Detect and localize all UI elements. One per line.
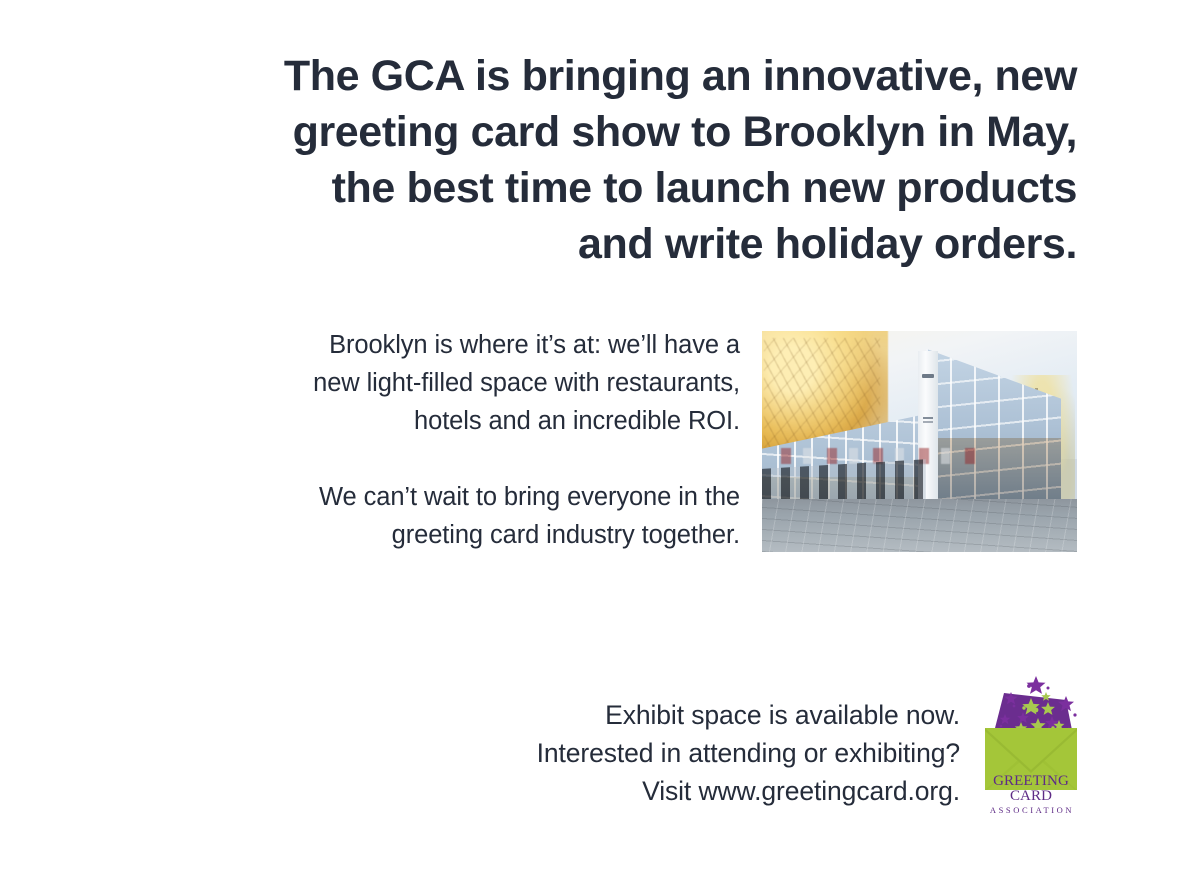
body-p1-line-3: hotels and an incredible ROI. bbox=[110, 402, 740, 440]
greeting-card-association-logo[interactable]: GREETING CARD ASSOCIATION bbox=[974, 668, 1088, 816]
cta-line-1: Exhibit space is available now. bbox=[300, 696, 960, 734]
logo-wordmark-line-2: ASSOCIATION bbox=[974, 806, 1088, 815]
page-headline: The GCA is bringing an innovative, new g… bbox=[120, 48, 1077, 272]
body-p2-line-1: We can’t wait to bring everyone in the bbox=[110, 478, 740, 516]
photo-parked-cars bbox=[781, 448, 976, 463]
headline-line-2: greeting card show to Brooklyn in May, bbox=[120, 104, 1077, 160]
body-p1-line-1: Brooklyn is where it’s at: we’ll have a bbox=[110, 326, 740, 364]
body-paragraph-2: We can’t wait to bring everyone in the g… bbox=[110, 478, 740, 554]
body-p2-line-2: greeting card industry together. bbox=[110, 516, 740, 554]
headline-line-1: The GCA is bringing an innovative, new bbox=[120, 48, 1077, 104]
call-to-action: Exhibit space is available now. Interest… bbox=[300, 696, 960, 810]
venue-photo bbox=[762, 331, 1077, 552]
venue-photo-artwork bbox=[762, 331, 1077, 552]
logo-wordmark: GREETING CARD ASSOCIATION bbox=[974, 774, 1088, 815]
headline-line-4: and write holiday orders. bbox=[120, 216, 1077, 272]
body-paragraph-1: Brooklyn is where it’s at: we’ll have a … bbox=[110, 326, 740, 440]
logo-wordmark-line-1: GREETING CARD bbox=[974, 774, 1088, 804]
headline-line-3: the best time to launch new products bbox=[120, 160, 1077, 216]
promo-page: The GCA is bringing an innovative, new g… bbox=[0, 0, 1203, 886]
photo-sidewalk bbox=[762, 499, 1077, 552]
body-copy: Brooklyn is where it’s at: we’ll have a … bbox=[110, 326, 740, 554]
body-p1-line-2: new light-filled space with restaurants, bbox=[110, 364, 740, 402]
cta-line-3[interactable]: Visit www.greetingcard.org. bbox=[300, 772, 960, 810]
cta-line-2: Interested in attending or exhibiting? bbox=[300, 734, 960, 772]
